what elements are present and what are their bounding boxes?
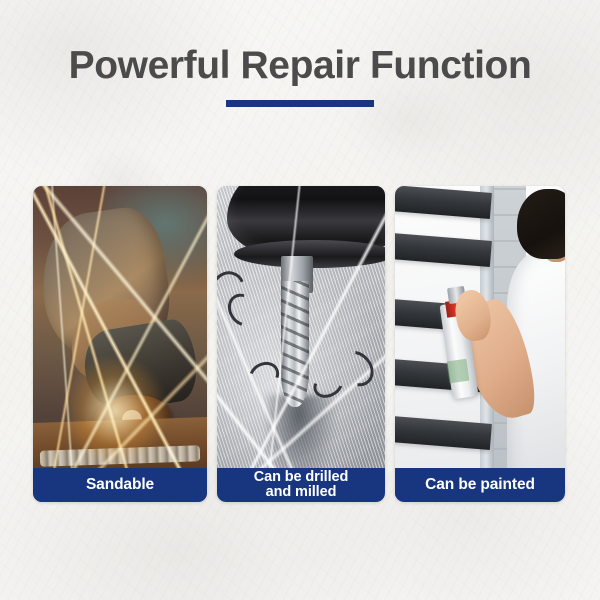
card-caption-drilled-milled: Can be drilled and milled [217,468,385,502]
angle-grinder-sparks-photo [33,186,207,502]
card-caption-sandable: Sandable [33,468,207,502]
spark-streaks [33,186,207,502]
card-caption-painted: Can be painted [395,468,565,502]
card-caption-label: Can be painted [425,477,535,493]
title-accent-rule [226,100,374,107]
metal-chip-streaks [217,186,385,502]
feature-card-sandable[interactable]: Sandable [33,186,207,502]
feature-card-painted[interactable]: Can be painted [395,186,565,502]
feature-card-drilled-milled[interactable]: Can be drilled and milled [217,186,385,502]
feature-card-row: Sandable Can be drille [33,186,565,502]
page-title: Powerful Repair Function [0,44,600,88]
marketing-banner: Powerful Repair Function Sandable [0,0,600,600]
card-caption-label: Can be drilled and milled [254,470,348,500]
drill-bit-metal-photo [217,186,385,502]
person-hair-shape [517,189,565,259]
card-caption-label: Sandable [86,477,154,493]
spray-can-label [446,358,469,383]
spray-painting-slats-photo [395,186,565,502]
header-block: Powerful Repair Function [0,44,600,107]
